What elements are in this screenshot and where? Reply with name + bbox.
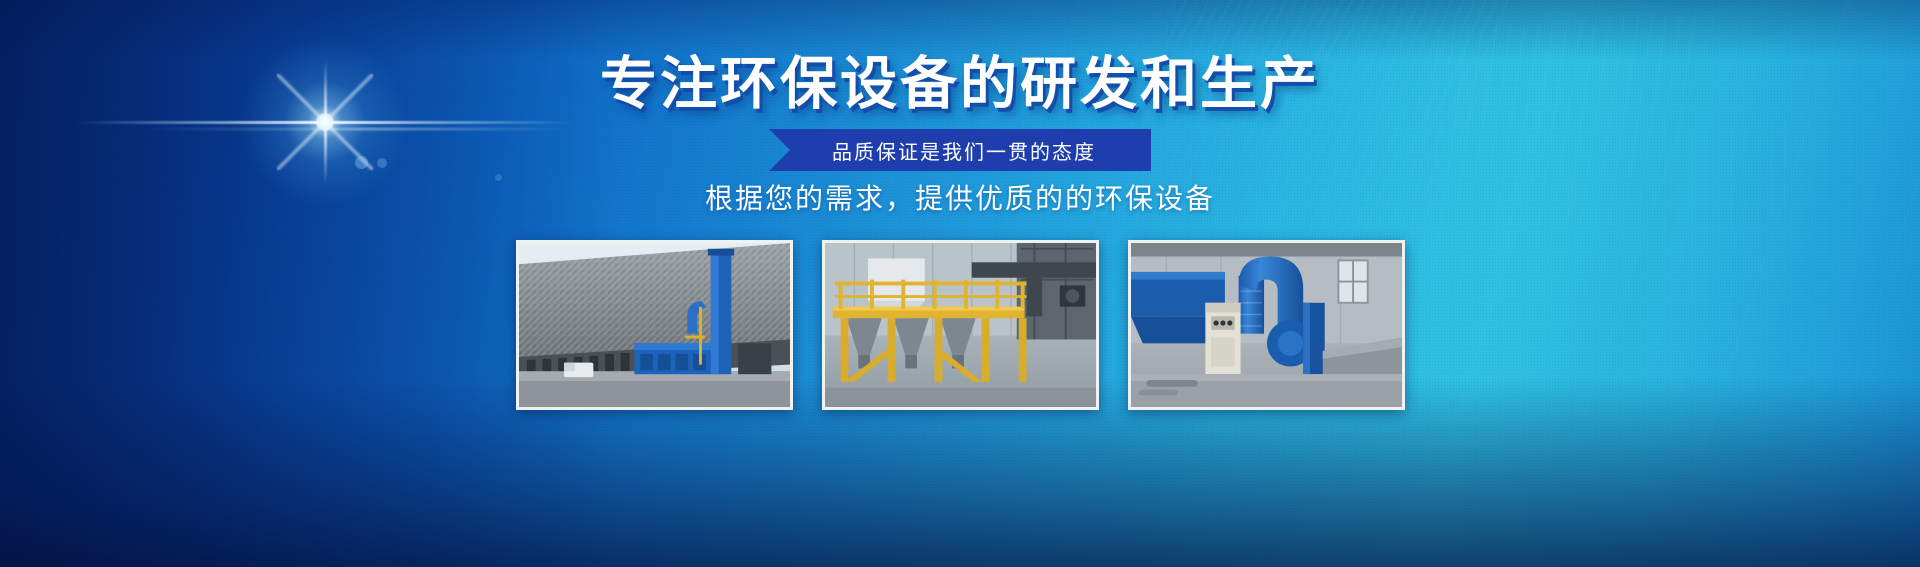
ribbon-badge: 品质保证是我们一贯的态度	[769, 129, 1151, 171]
photo-item[interactable]	[1128, 240, 1405, 410]
ribbon-container: 品质保证是我们一贯的态度	[0, 129, 1920, 171]
cyclone-ducting-image	[1131, 243, 1402, 407]
banner-headline: 专注环保设备的研发和生产	[0, 56, 1920, 113]
photo-item[interactable]	[822, 240, 1099, 410]
spray-booth-platform-image	[825, 243, 1096, 407]
workshop-exterior-image	[519, 243, 790, 407]
promotional-banner: 专注环保设备的研发和生产 品质保证是我们一贯的态度 根据您的需求，提供优质的的环…	[0, 0, 1920, 567]
banner-subline: 根据您的需求，提供优质的的环保设备	[0, 177, 1920, 217]
photo-strip	[0, 240, 1920, 410]
ribbon-label: 品质保证是我们一贯的态度	[824, 136, 1096, 165]
photo-item[interactable]	[516, 240, 793, 410]
